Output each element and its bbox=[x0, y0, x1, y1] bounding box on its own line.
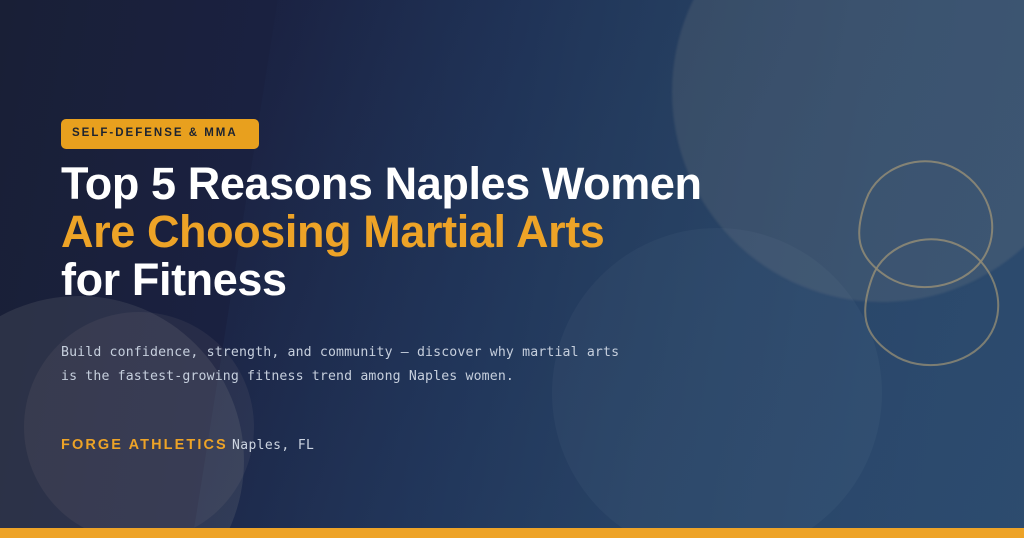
category-badge-label: SELF-DEFENSE & MMA bbox=[72, 127, 238, 139]
headline-line-1: Top 5 Reasons Naples Women bbox=[61, 160, 861, 208]
category-badge: SELF-DEFENSE & MMA bbox=[61, 119, 259, 149]
bottom-accent-bar bbox=[0, 528, 1024, 538]
banner-content: SELF-DEFENSE & MMA Top 5 Reasons Naples … bbox=[61, 0, 861, 538]
subtitle: Build confidence, strength, and communit… bbox=[61, 341, 841, 390]
headline-line-2: Are Choosing Martial Arts bbox=[61, 208, 861, 256]
subtitle-line-1: Build confidence, strength, and communit… bbox=[61, 341, 841, 365]
hero-banner: SELF-DEFENSE & MMA Top 5 Reasons Naples … bbox=[0, 0, 1024, 538]
page-title: Top 5 Reasons Naples Women Are Choosing … bbox=[61, 160, 861, 304]
subtitle-line-2: is the fastest-growing fitness trend amo… bbox=[61, 365, 841, 389]
location-label: Naples, FL bbox=[232, 438, 314, 453]
brand-name: FORGE ATHLETICS bbox=[61, 437, 228, 453]
banner-footer: FORGE ATHLETICS Naples, FL bbox=[61, 437, 661, 459]
headline-line-3: for Fitness bbox=[61, 256, 861, 304]
